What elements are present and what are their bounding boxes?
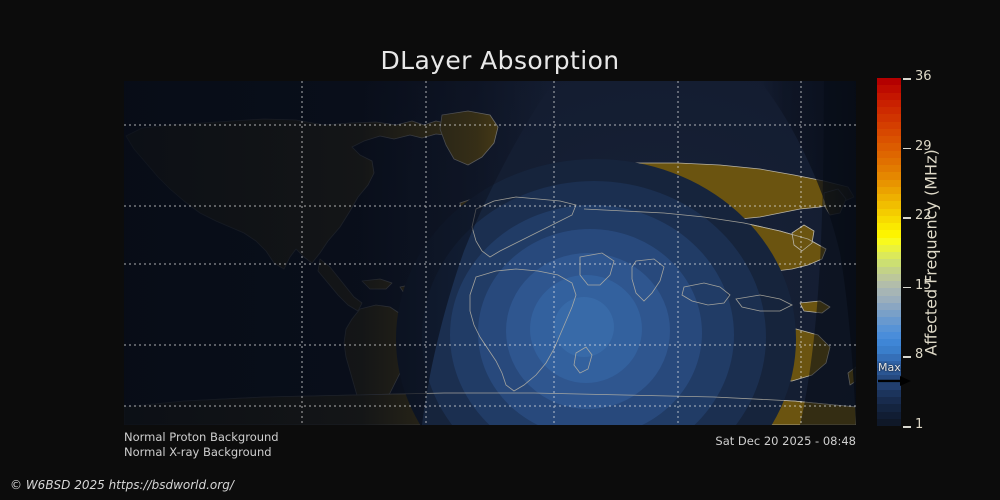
colorbar-tick-line bbox=[903, 356, 911, 358]
colorbar-tick: 1 bbox=[901, 426, 961, 427]
colorbar-tick-line bbox=[903, 217, 911, 219]
colorbar-segment bbox=[877, 419, 901, 426]
colorbar-segment bbox=[877, 85, 901, 92]
colorbar-segment bbox=[877, 339, 901, 346]
colorbar-segment bbox=[877, 78, 901, 85]
colorbar-segment bbox=[877, 158, 901, 165]
graticule-layer bbox=[124, 81, 856, 425]
max-marker-label: Max bbox=[878, 362, 901, 374]
colorbar-segment bbox=[877, 114, 901, 121]
max-arrow-icon bbox=[878, 375, 912, 387]
colorbar-tick-line bbox=[903, 148, 911, 150]
colorbar-segment bbox=[877, 122, 901, 129]
colorbar-segment bbox=[877, 259, 901, 266]
colorbar-segment bbox=[877, 143, 901, 150]
colorbar-segment bbox=[877, 296, 901, 303]
colorbar-tick-line bbox=[903, 287, 911, 289]
colorbar-segment bbox=[877, 303, 901, 310]
colorbar-segment bbox=[877, 165, 901, 172]
colorbar-segment bbox=[877, 317, 901, 324]
colorbar-segment bbox=[877, 107, 901, 114]
colorbar-segment bbox=[877, 194, 901, 201]
colorbar-segment bbox=[877, 397, 901, 404]
colorbar-tick-line bbox=[903, 426, 911, 428]
colorbar-segment bbox=[877, 252, 901, 259]
colorbar-segment bbox=[877, 151, 901, 158]
max-marker: Max bbox=[878, 362, 914, 384]
colorbar-segment bbox=[877, 412, 901, 419]
xray-background-note: Normal X-ray Background bbox=[124, 445, 272, 459]
colorbar-segment bbox=[877, 346, 901, 353]
colorbar-axis-label: Affected Frequency (MHz) bbox=[916, 78, 946, 426]
colorbar-segment bbox=[877, 136, 901, 143]
timestamp: Sat Dec 20 2025 - 08:48 bbox=[715, 434, 856, 448]
colorbar-axis-label-text: Affected Frequency (MHz) bbox=[922, 149, 941, 355]
dlayer-absorption-plot: DLayer Absorption bbox=[0, 0, 1000, 500]
colorbar-segment bbox=[877, 201, 901, 208]
copyright-notice: © W6BSD 2025 https://bsdworld.org/ bbox=[10, 478, 234, 492]
colorbar-segment bbox=[877, 187, 901, 194]
colorbar-segment bbox=[877, 310, 901, 317]
map-clip bbox=[124, 81, 856, 425]
world-map[interactable] bbox=[124, 81, 856, 425]
colorbar-tick-line bbox=[903, 78, 911, 80]
colorbar-segment bbox=[877, 238, 901, 245]
colorbar-segment bbox=[877, 230, 901, 237]
colorbar-segment bbox=[877, 332, 901, 339]
colorbar-segment bbox=[877, 281, 901, 288]
proton-background-note: Normal Proton Background bbox=[124, 430, 279, 444]
colorbar-segment bbox=[877, 129, 901, 136]
colorbar-segment bbox=[877, 93, 901, 100]
colorbar-segment bbox=[877, 390, 901, 397]
colorbar-segment bbox=[877, 325, 901, 332]
colorbar-segment bbox=[877, 267, 901, 274]
colorbar-segment bbox=[877, 172, 901, 179]
colorbar-segment bbox=[877, 216, 901, 223]
colorbar-segment bbox=[877, 354, 901, 361]
colorbar-segment bbox=[877, 180, 901, 187]
colorbar-segment bbox=[877, 288, 901, 295]
colorbar-segment bbox=[877, 274, 901, 281]
colorbar-segment bbox=[877, 223, 901, 230]
colorbar-segment bbox=[877, 209, 901, 216]
colorbar-segment bbox=[877, 404, 901, 411]
page-title: DLayer Absorption bbox=[0, 46, 1000, 75]
colorbar-segment bbox=[877, 245, 901, 252]
colorbar-segment bbox=[877, 100, 901, 107]
